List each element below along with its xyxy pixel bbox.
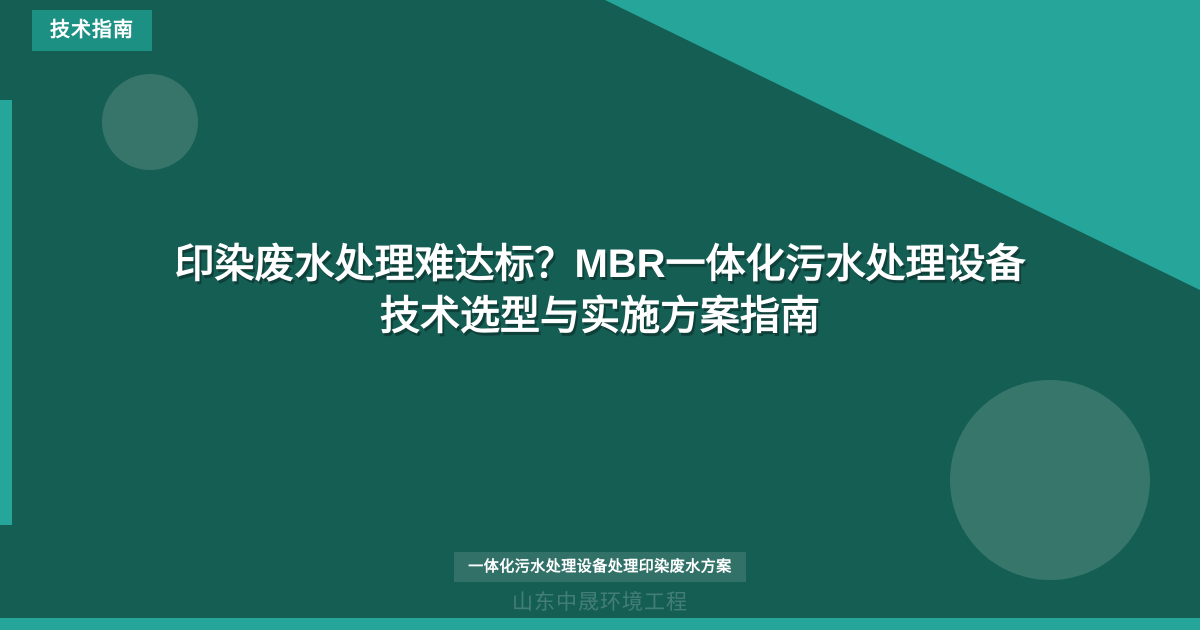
cover-banner: 技术指南 印染废水处理难达标？MBR一体化污水处理设备 技术选型与实施方案指南 … <box>0 0 1200 630</box>
title-line-1: 印染废水处理难达标？MBR一体化污水处理设备 <box>70 238 1130 290</box>
page-title: 印染废水处理难达标？MBR一体化污水处理设备 技术选型与实施方案指南 <box>0 238 1200 342</box>
decorative-circle-top-left <box>102 74 198 170</box>
caption-container: 一体化污水处理设备处理印染废水方案 <box>0 552 1200 582</box>
caption-label: 一体化污水处理设备处理印染废水方案 <box>454 552 746 582</box>
bottom-accent-bar <box>0 618 1200 630</box>
watermark-container: 山东中晟环境工程 <box>0 592 1200 614</box>
decorative-circle-bottom-right <box>950 380 1150 580</box>
watermark-label: 山东中晟环境工程 <box>512 592 688 613</box>
title-line-2: 技术选型与实施方案指南 <box>70 290 1130 342</box>
category-badge: 技术指南 <box>32 10 152 51</box>
